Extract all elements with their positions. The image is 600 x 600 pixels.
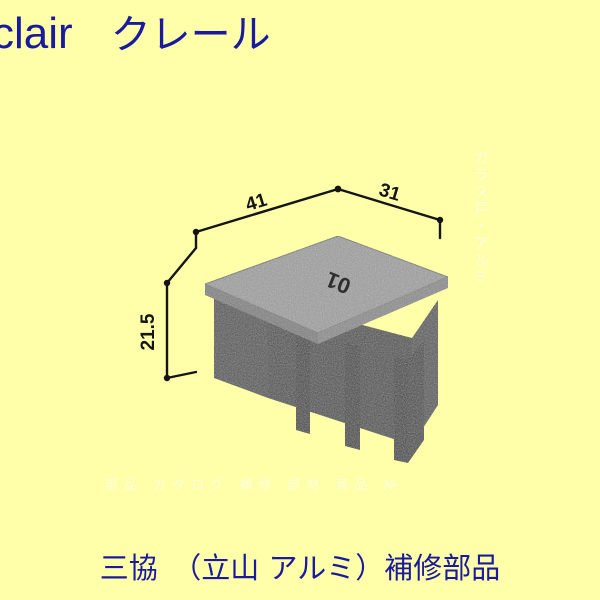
dimension-line-height xyxy=(167,248,196,378)
footer-caption: 三協 （立山 アルミ）補修部品 xyxy=(0,548,600,588)
screenshot-root: ガラス戸・アルミ 部品 カタログ 補修 部材 商品 № clairクレール xyxy=(0,0,600,600)
drawing-canvas: 01 41 31 21.5 xyxy=(0,0,600,600)
part-technical-drawing: 01 41 31 21.5 xyxy=(0,0,600,600)
part-rib-3 xyxy=(394,357,408,463)
dimension-line-width xyxy=(196,189,338,248)
part-body: 01 xyxy=(205,236,448,463)
part-rib-1 xyxy=(296,330,310,434)
part-rear-right-wall xyxy=(408,340,424,463)
part-rib-2 xyxy=(345,343,360,450)
dimension-label-height: 21.5 xyxy=(138,313,159,350)
